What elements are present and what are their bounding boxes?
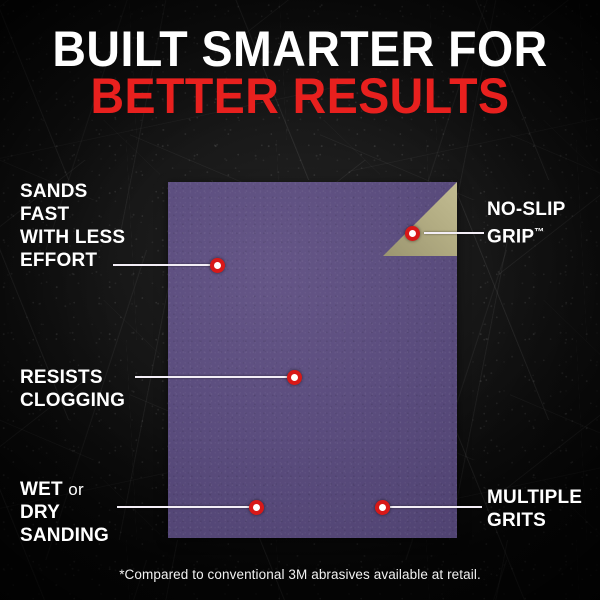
callout-sanding-word: SANDING <box>20 525 109 546</box>
leader-line-no-slip-grip <box>424 232 484 234</box>
callout-grip-line: GRIP <box>487 226 534 247</box>
callout-dot-resists-clogging <box>287 370 302 385</box>
trademark-symbol: ™ <box>534 227 544 238</box>
callout-label-multiple-grits: MULTIPLE GRITS <box>487 486 582 532</box>
leader-line-sands-fast <box>113 264 219 266</box>
callout-label-no-slip-grip: NO-SLIPGRIP™ <box>487 198 565 248</box>
callout-or-word: or <box>68 480 84 499</box>
callout-wet-word: WET <box>20 479 63 500</box>
callout-dry-word: DRY <box>20 502 60 523</box>
callout-dot-wet-or-dry <box>249 500 264 515</box>
callout-label-wet-or-dry: WET orDRYSANDING <box>20 478 109 547</box>
callout-label-resists-clogging: RESISTS CLOGGING <box>20 366 125 412</box>
callout-dot-sands-fast <box>210 258 225 273</box>
leader-line-resists-clogging <box>135 376 297 378</box>
callout-dot-multiple-grits <box>375 500 390 515</box>
infographic-canvas: BUILT SMARTER FOR BETTER RESULTS SANDS F… <box>0 0 600 600</box>
callout-label-sands-fast: SANDS FAST WITH LESS EFFORT <box>20 180 125 272</box>
headline-block: BUILT SMARTER FOR BETTER RESULTS <box>0 26 600 119</box>
callout-no-slip-line: NO-SLIP <box>487 199 565 220</box>
leader-line-wet-or-dry <box>117 506 259 508</box>
headline-line-1: BUILT SMARTER FOR <box>21 26 579 73</box>
leader-line-multiple-grits <box>390 506 482 508</box>
footnote-text: *Compared to conventional 3M abrasives a… <box>0 567 600 582</box>
callout-dot-no-slip-grip <box>405 226 420 241</box>
headline-line-2: BETTER RESULTS <box>21 73 579 120</box>
